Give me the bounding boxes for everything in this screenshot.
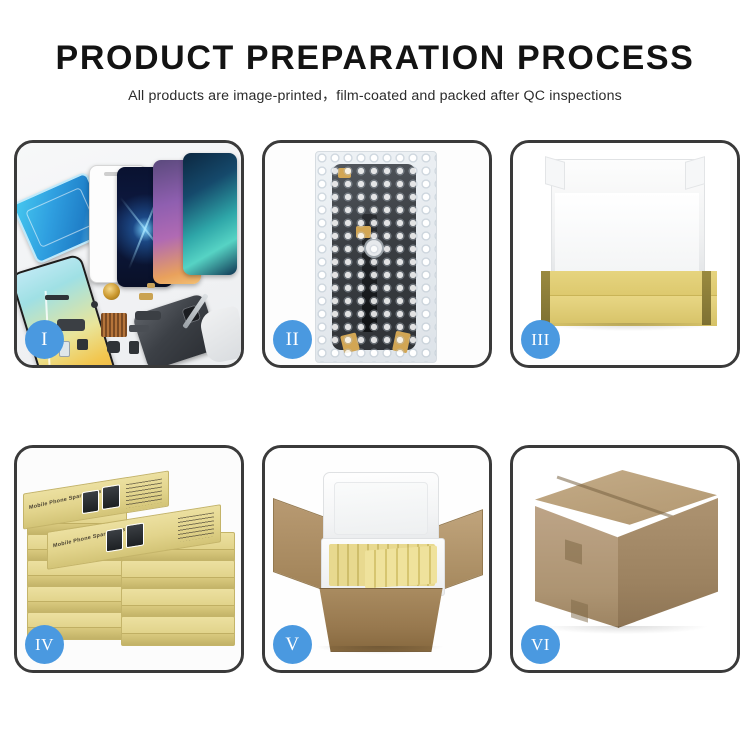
page-title: PRODUCT PREPARATION PROCESS	[0, 38, 750, 78]
stacked-box	[121, 588, 235, 618]
phone-teal-icon	[183, 153, 237, 275]
step-badge-1: I	[25, 320, 64, 359]
label-screen-image	[82, 490, 99, 515]
copper-chip-icon	[101, 313, 127, 337]
stacked-box	[121, 560, 235, 590]
speaker-coil-icon	[103, 283, 120, 300]
ribbon-cable-icon	[129, 325, 149, 332]
label-spec-lines	[126, 479, 162, 509]
box-lid-tab-icon	[685, 156, 705, 190]
drop-shadow	[541, 626, 707, 634]
header: PRODUCT PREPARATION PROCESS All products…	[0, 38, 750, 105]
step-badge-6: VI	[521, 625, 560, 664]
step-badge-2: II	[273, 320, 312, 359]
process-step-grid: I II	[14, 140, 736, 673]
label-screen-image	[126, 522, 144, 548]
box-edge-icon	[702, 271, 711, 325]
gold-tape-icon	[338, 168, 351, 178]
gold-contact-icon	[139, 293, 153, 300]
gold-connector-icon	[147, 283, 155, 288]
box-edge-icon	[541, 271, 550, 325]
box-side	[122, 633, 234, 645]
label-screen-image	[102, 484, 120, 510]
camera-module-icon	[107, 341, 120, 353]
screw-icon	[91, 301, 98, 308]
boxed-units-icon	[365, 545, 437, 588]
drop-shadow	[543, 323, 715, 331]
step-badge-5: V	[273, 625, 312, 664]
process-step-panel-1: I	[14, 140, 244, 368]
component-bar-icon	[45, 295, 69, 300]
box-front-panel-icon	[541, 295, 717, 326]
bubble-wrap-package	[315, 151, 437, 363]
label-screen-image	[106, 528, 123, 553]
stacked-box	[27, 586, 127, 614]
process-step-panel-3: III	[510, 140, 740, 368]
gold-tape-icon	[356, 226, 371, 238]
page-subtitle: All products are image-printed，film-coat…	[0, 87, 750, 105]
process-step-panel-4: Mobile Phone Spare Parts Mobile Phone Sp…	[14, 445, 244, 673]
flex-cable-icon	[135, 311, 161, 320]
gold-tape-icon	[392, 331, 411, 354]
step-badge-3: III	[521, 320, 560, 359]
process-step-panel-2: II	[262, 140, 492, 368]
connector-icon	[364, 238, 384, 258]
foam-lid-icon	[323, 472, 439, 546]
product-preparation-infographic: PRODUCT PREPARATION PROCESS All products…	[0, 0, 750, 750]
carton-body-icon	[311, 588, 451, 652]
drop-shadow	[317, 646, 443, 654]
step-badge-4: IV	[25, 625, 64, 664]
box-lid-tab-icon	[545, 156, 565, 190]
foam-sheet-icon	[555, 193, 699, 271]
label-spec-lines	[178, 512, 214, 542]
small-component-icon	[77, 339, 88, 350]
small-component-icon	[129, 341, 139, 354]
process-step-panel-5: V	[262, 445, 492, 673]
stacked-box	[121, 616, 235, 646]
process-step-panel-6: VI	[510, 445, 740, 673]
